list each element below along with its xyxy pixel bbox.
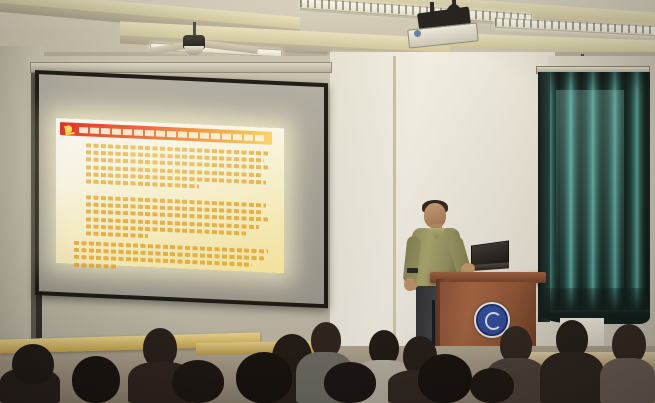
audience-body [540, 352, 604, 403]
projection-screen [35, 70, 328, 308]
slide-paragraph [86, 143, 268, 194]
slide-title-text [79, 126, 265, 140]
screen-surface [39, 74, 324, 304]
slide-paragraph [86, 195, 268, 246]
speaker-left-hand [404, 278, 416, 291]
audience-head [324, 362, 376, 403]
curtain-edge [538, 72, 550, 322]
audience-head [236, 352, 292, 403]
audience-body [600, 358, 655, 403]
party-emblem-icon [62, 123, 75, 135]
wall-seam [393, 56, 396, 348]
slide [56, 118, 284, 273]
audience-head [418, 354, 472, 403]
slide-title-banner [60, 122, 272, 145]
lecture-hall-photo [0, 0, 655, 403]
window-curtain[interactable] [538, 72, 650, 310]
speaker-wristwatch [407, 268, 418, 273]
audience-head [172, 360, 224, 403]
audience-head [12, 344, 54, 384]
audience-head [72, 356, 120, 403]
audience-head [470, 368, 514, 403]
slide-paragraph [74, 241, 268, 279]
